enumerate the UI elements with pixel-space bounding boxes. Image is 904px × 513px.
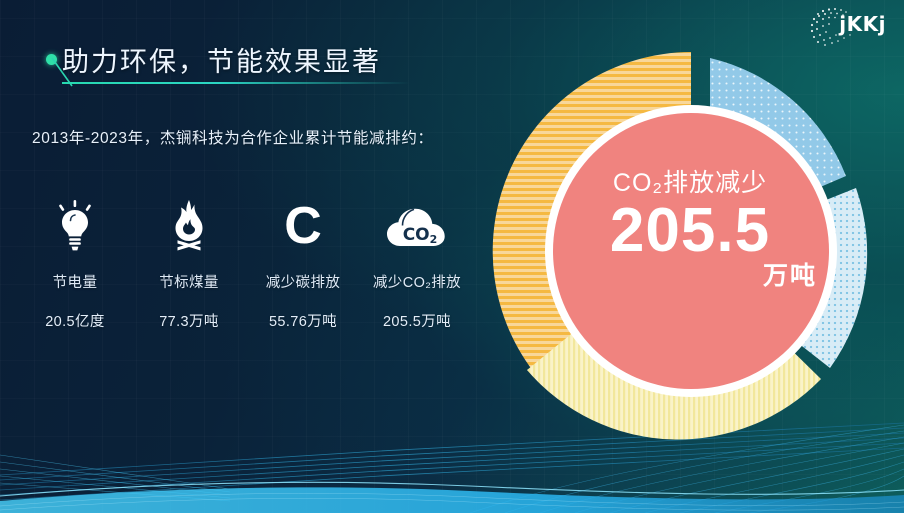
- stat-item-co2: CO2 减少CO₂排放 205.5万吨: [360, 195, 474, 331]
- co2-cloud-icon: CO2: [380, 195, 454, 257]
- stat-value: 77.3万吨: [159, 310, 219, 331]
- title-underline: [62, 82, 410, 84]
- logo-text: jKKj: [839, 12, 886, 36]
- subtitle-text: 2013年-2023年，杰锎科技为合作企业累计节能减排约：: [32, 125, 482, 153]
- stat-value: 55.76万吨: [269, 310, 337, 331]
- donut-chart: [478, 38, 904, 468]
- stat-item-carbon: C 减少碳排放 55.76万吨: [246, 195, 360, 331]
- stat-item-coal: 节标煤量 77.3万吨: [132, 195, 246, 331]
- lightbulb-icon: [49, 195, 101, 257]
- carbon-c-letter: C: [284, 200, 322, 252]
- stat-value: 205.5万吨: [383, 310, 451, 331]
- stat-label: 减少碳排放: [266, 271, 341, 292]
- page-title-text: 助力环保，节能效果显著: [62, 40, 381, 79]
- stats-row: 节电量 20.5亿度 节标煤量 77.3万吨 C 减少碳排放 55: [18, 195, 488, 331]
- stat-item-electricity: 节电量 20.5亿度: [18, 195, 132, 331]
- carbon-c-icon: C: [284, 195, 322, 257]
- flame-icon: [163, 195, 215, 257]
- stat-value: 20.5亿度: [45, 310, 105, 331]
- stat-label: 减少CO₂排放: [373, 271, 461, 292]
- donut-center-circle: [553, 113, 829, 389]
- stat-label: 节电量: [53, 271, 98, 292]
- stat-label: 节标煤量: [159, 271, 219, 292]
- slide-root: 助力环保，节能效果显著 2013年-2023年，杰锎科技为合作企业累计节能减排约…: [0, 0, 904, 513]
